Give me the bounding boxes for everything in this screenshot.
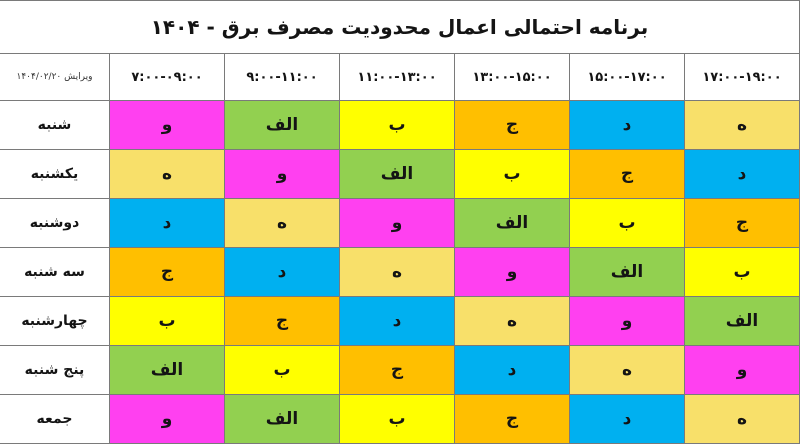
day-name-cell: پنج شنبه [0, 346, 110, 395]
group-cell: الف [225, 101, 340, 150]
time-slot-header-2: ۱۵:۰۰-۱۷:۰۰ [570, 54, 685, 101]
group-cell: و [685, 346, 800, 395]
time-slot-header-4: ۱۱:۰۰-۱۳:۰۰ [340, 54, 455, 101]
time-slot-header-6: ۷:۰۰-۰۹:۰۰ [110, 54, 225, 101]
group-cell: ج [110, 248, 225, 297]
table-row: بالفوهدجسه شنبه [0, 248, 800, 297]
group-cell: ه [225, 199, 340, 248]
group-cell: د [685, 150, 800, 199]
group-cell: و [110, 101, 225, 150]
group-cell: د [570, 101, 685, 150]
group-cell: ه [455, 297, 570, 346]
group-cell: ب [685, 248, 800, 297]
time-slot-header-5: ۹:۰۰-۱۱:۰۰ [225, 54, 340, 101]
group-cell: الف [225, 395, 340, 444]
group-cell: الف [110, 346, 225, 395]
table-row: الفوهدجبچهارشنبه [0, 297, 800, 346]
day-name-cell: دوشنبه [0, 199, 110, 248]
group-cell: الف [570, 248, 685, 297]
group-cell: ب [340, 395, 455, 444]
table-row: هدجبالفوشنبه [0, 101, 800, 150]
time-slot-header-3: ۱۳:۰۰-۱۵:۰۰ [455, 54, 570, 101]
group-cell: د [340, 297, 455, 346]
group-cell: ج [570, 150, 685, 199]
group-cell: ه [340, 248, 455, 297]
group-cell: ب [225, 346, 340, 395]
group-cell: ه [685, 395, 800, 444]
day-name-cell: شنبه [0, 101, 110, 150]
day-name-cell: جمعه [0, 395, 110, 444]
group-cell: ب [455, 150, 570, 199]
group-cell: ج [685, 199, 800, 248]
table-body: هدجبالفوشنبهدجبالفوهیکشنبهجبالفوهددوشنبه… [0, 101, 800, 444]
table-row: هدجبالفوجمعه [0, 395, 800, 444]
schedule-sheet: برنامه احتمالی اعمال محدودیت مصرف برق - … [0, 0, 800, 441]
group-cell: ه [110, 150, 225, 199]
group-cell: ج [225, 297, 340, 346]
group-cell: الف [685, 297, 800, 346]
title-row: برنامه احتمالی اعمال محدودیت مصرف برق - … [0, 1, 800, 54]
group-cell: و [455, 248, 570, 297]
group-cell: د [225, 248, 340, 297]
table-head: برنامه احتمالی اعمال محدودیت مصرف برق - … [0, 1, 800, 101]
group-cell: و [340, 199, 455, 248]
group-cell: الف [455, 199, 570, 248]
group-cell: ب [110, 297, 225, 346]
group-cell: د [110, 199, 225, 248]
group-cell: د [570, 395, 685, 444]
day-name-cell: سه شنبه [0, 248, 110, 297]
power-outage-schedule-table: برنامه احتمالی اعمال محدودیت مصرف برق - … [0, 0, 800, 444]
day-name-cell: چهارشنبه [0, 297, 110, 346]
day-name-cell: یکشنبه [0, 150, 110, 199]
group-cell: ج [340, 346, 455, 395]
group-cell: الف [340, 150, 455, 199]
revision-label: ویرایش ۱۴۰۴/۰۲/۲۰ [0, 54, 110, 101]
table-row: وهدجبالفپنج شنبه [0, 346, 800, 395]
group-cell: ج [455, 101, 570, 150]
time-slot-header-1: ۱۷:۰۰-۱۹:۰۰ [685, 54, 800, 101]
group-cell: ه [685, 101, 800, 150]
page-title: برنامه احتمالی اعمال محدودیت مصرف برق - … [0, 1, 800, 54]
group-cell: ه [570, 346, 685, 395]
group-cell: و [570, 297, 685, 346]
table-row: جبالفوهددوشنبه [0, 199, 800, 248]
group-cell: ب [570, 199, 685, 248]
table-row: دجبالفوهیکشنبه [0, 150, 800, 199]
group-cell: د [455, 346, 570, 395]
group-cell: ج [455, 395, 570, 444]
group-cell: و [225, 150, 340, 199]
group-cell: ب [340, 101, 455, 150]
column-header-row: ۱۷:۰۰-۱۹:۰۰۱۵:۰۰-۱۷:۰۰۱۳:۰۰-۱۵:۰۰۱۱:۰۰-۱… [0, 54, 800, 101]
group-cell: و [110, 395, 225, 444]
